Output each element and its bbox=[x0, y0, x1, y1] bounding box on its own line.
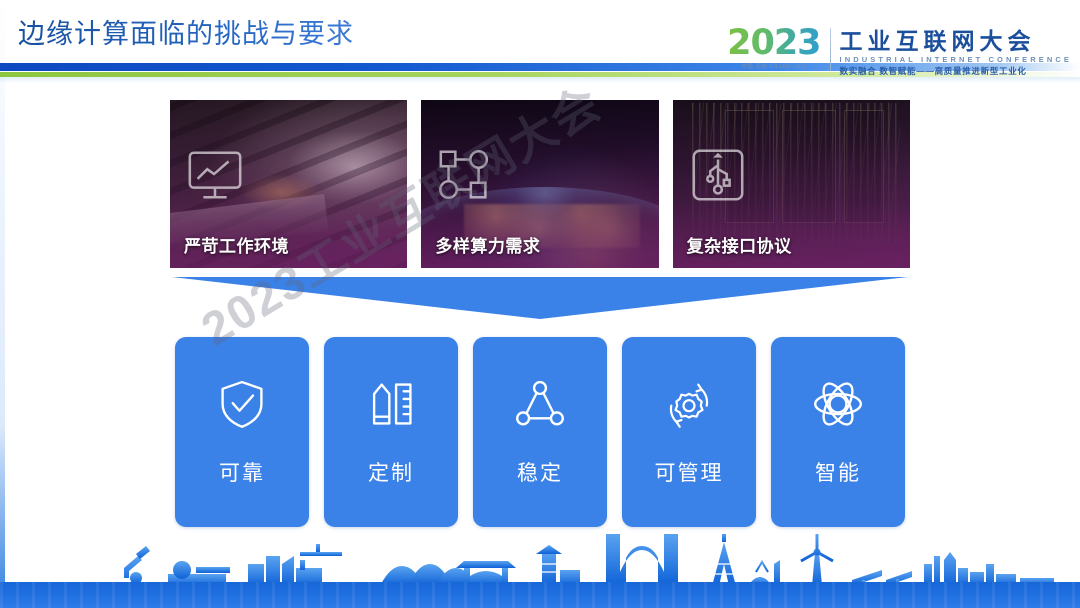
challenge-label: 严苛工作环境 bbox=[184, 232, 289, 257]
triangle-nodes-icon bbox=[513, 377, 567, 431]
network-nodes-icon bbox=[435, 144, 497, 206]
requirement-label: 定制 bbox=[368, 457, 414, 487]
slide: 边缘计算面临的挑战与要求 2023 中国·苏州 8月14日-15日 工业互联网大… bbox=[0, 0, 1080, 608]
logo-name-cn: 工业互联网大会 bbox=[840, 28, 1072, 54]
conference-logo: 2023 中国·苏州 8月14日-15日 工业互联网大会 INDUSTRIAL … bbox=[727, 26, 1072, 77]
footer-decoration bbox=[0, 536, 1080, 608]
gear-refresh-icon bbox=[662, 377, 716, 431]
challenge-card-interface-protocol[interactable]: 复杂接口协议 bbox=[673, 100, 910, 268]
requirement-card-row: 可靠 定制 稳定 bbox=[175, 337, 905, 527]
atom-icon bbox=[811, 377, 865, 431]
requirement-card-intelligent[interactable]: 智能 bbox=[771, 337, 905, 527]
challenge-card-row: 严苛工作环境 多样算力需求 bbox=[170, 100, 910, 268]
challenge-card-diverse-compute[interactable]: 多样算力需求 bbox=[421, 100, 658, 268]
pencil-ruler-icon bbox=[364, 377, 418, 431]
left-edge-strip bbox=[0, 0, 5, 608]
challenge-card-harsh-environment[interactable]: 严苛工作环境 bbox=[170, 100, 407, 268]
requirement-card-manageable[interactable]: 可管理 bbox=[622, 337, 756, 527]
requirement-label: 智能 bbox=[815, 457, 861, 487]
requirement-label: 可管理 bbox=[655, 457, 724, 487]
footer-water-band bbox=[0, 582, 1080, 608]
logo-tagline: 数实融合 数智赋能——高质量推进新型工业化 bbox=[840, 66, 1072, 77]
challenge-label: 多样算力需求 bbox=[435, 232, 540, 257]
requirement-label: 稳定 bbox=[517, 457, 563, 487]
page-title: 边缘计算面临的挑战与要求 bbox=[18, 17, 354, 51]
logo-year-text: 2023 bbox=[727, 26, 820, 61]
challenge-label: 复杂接口协议 bbox=[687, 232, 792, 257]
usb-port-icon bbox=[687, 144, 749, 206]
requirement-label: 可靠 bbox=[219, 457, 265, 487]
requirement-card-customizable[interactable]: 定制 bbox=[324, 337, 458, 527]
logo-divider bbox=[830, 28, 831, 71]
logo-date-text: 中国·苏州 8月14日-15日 bbox=[727, 64, 820, 71]
requirement-card-stable[interactable]: 稳定 bbox=[473, 337, 607, 527]
title-rule-fade bbox=[0, 77, 1080, 83]
requirement-card-reliable[interactable]: 可靠 bbox=[175, 337, 309, 527]
city-skyline-icon bbox=[0, 534, 1080, 586]
down-chevron-arrow bbox=[172, 277, 908, 319]
logo-year-block: 2023 中国·苏州 8月14日-15日 bbox=[727, 26, 829, 71]
logo-name-block: 工业互联网大会 INDUSTRIAL INTERNET CONFERENCE 数… bbox=[840, 26, 1072, 77]
monitor-chart-icon bbox=[184, 144, 246, 206]
logo-name-en: INDUSTRIAL INTERNET CONFERENCE bbox=[840, 55, 1072, 65]
shield-check-icon bbox=[215, 377, 269, 431]
